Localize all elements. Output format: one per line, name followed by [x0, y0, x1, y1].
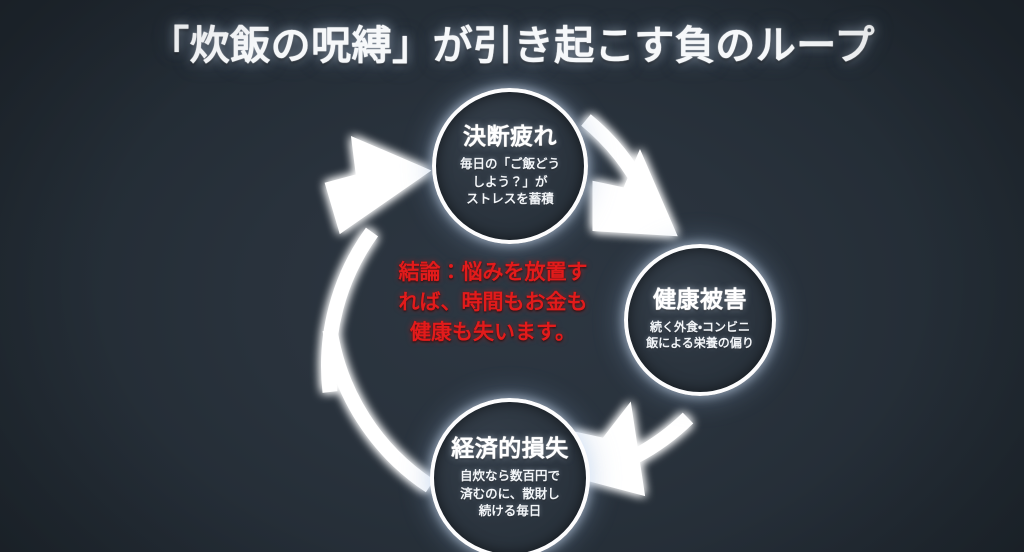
- conclusion-text: 結論：悩みを放置す れば、時間もお金も 健康も失います。: [378, 258, 608, 347]
- node-title: 決断疲れ: [463, 125, 557, 150]
- node-description: 自炊なら数百円で 済むのに、散財し 続ける毎日: [460, 467, 560, 519]
- node-description: 続く外食・コンビニ 飯による栄養の偏り: [646, 319, 754, 352]
- arrow-decision-to-health: [586, 120, 666, 228]
- node-title: 経済的損失: [451, 437, 569, 462]
- node-economic-loss[interactable]: 経済的損失 自炊なら数百円で 済むのに、散財し 続ける毎日: [430, 398, 590, 552]
- node-description: 毎日の「ご飯どう しよう？」が ストレスを蓄積: [460, 155, 560, 207]
- node-decision-fatigue[interactable]: 決断疲れ 毎日の「ご飯どう しよう？」が ストレスを蓄積: [432, 88, 588, 244]
- node-title: 健康被害: [653, 288, 747, 313]
- diagram-canvas: 「炊飯の呪縛」が引き起こす負のループ: [0, 0, 1024, 552]
- node-health-damage[interactable]: 健康被害 続く外食・コンビニ 飯による栄養の偏り: [624, 244, 776, 396]
